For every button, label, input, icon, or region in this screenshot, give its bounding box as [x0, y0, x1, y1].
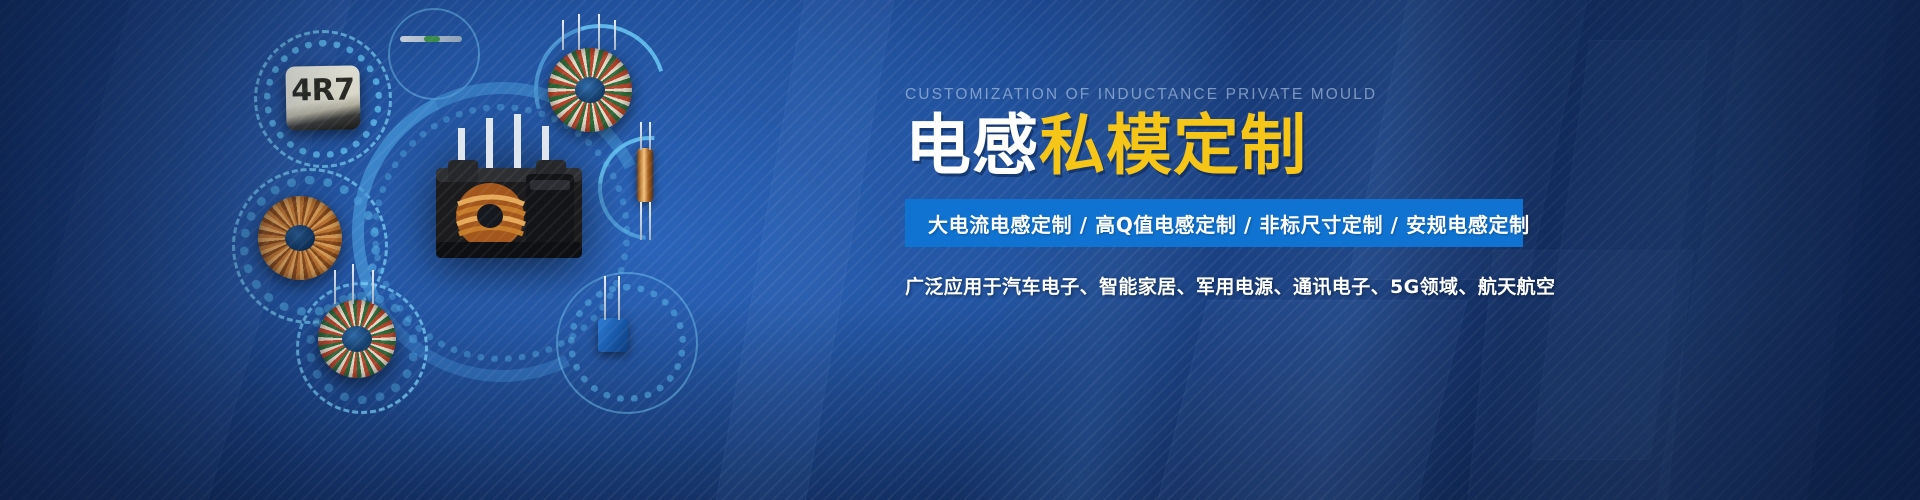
page-title: 电感私模定制	[905, 113, 1675, 179]
feature-bar-text: 大电流电感定制 / 高Q值电感定制 / 非标尺寸定制 / 安规电感定制	[928, 209, 1530, 238]
banner-text-content: CUSTOMIZATION OF INDUCTANCE PRIVATE MOUL…	[905, 86, 1675, 299]
feature-bar: 大电流电感定制 / 高Q值电感定制 / 非标尺寸定制 / 安规电感定制	[905, 199, 1523, 247]
english-subtitle: CUSTOMIZATION OF INDUCTANCE PRIVATE MOUL…	[905, 86, 1675, 104]
application-description: 广泛应用于汽车电子、智能家居、军用电源、通讯电子、5G领域、航天航空	[905, 272, 1675, 299]
headline-white-part: 电感	[905, 107, 1039, 184]
promo-banner: 4R7	[0, 0, 1920, 500]
headline-yellow-part: 私模定制	[1039, 107, 1307, 184]
